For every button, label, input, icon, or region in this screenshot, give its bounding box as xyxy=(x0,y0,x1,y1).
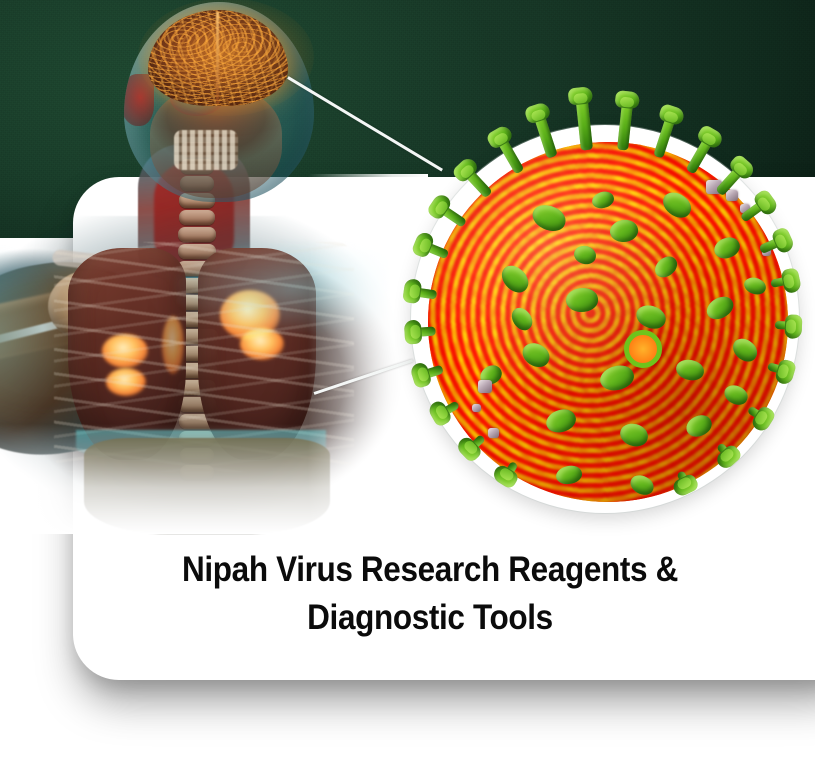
page-title: Nipah Virus Research Reagents & Diagnost… xyxy=(80,546,780,642)
page-root: Nipah Virus Research Reagents & Diagnost… xyxy=(0,0,815,768)
page-title-line-2: Diagnostic Tools xyxy=(115,594,745,642)
page-title-line-1: Nipah Virus Research Reagents & xyxy=(115,546,745,594)
